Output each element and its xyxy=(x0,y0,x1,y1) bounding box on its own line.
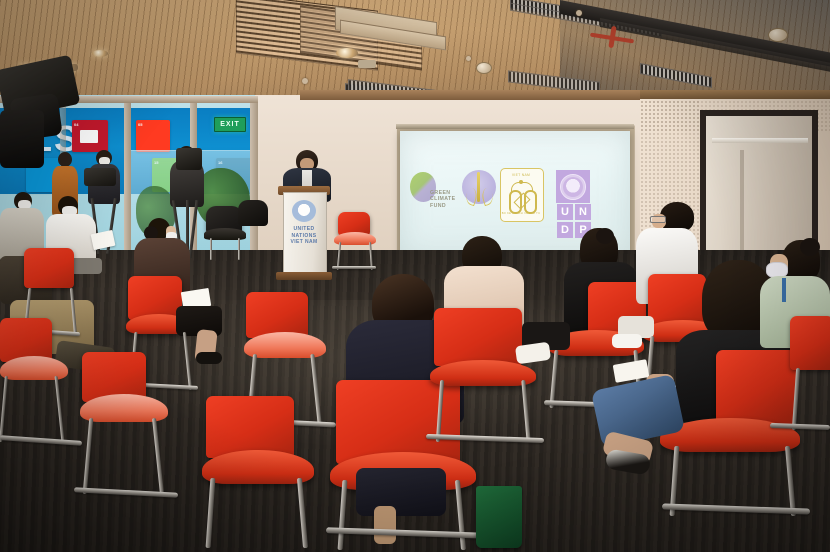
wall-top-trim-right xyxy=(640,90,830,99)
audience-r1-bun xyxy=(596,228,614,244)
sdg-tile-04-number: 04 xyxy=(74,122,78,127)
ceiling-sprinkler-3 xyxy=(576,10,582,16)
chair-r4-back[interactable] xyxy=(790,316,830,370)
gcf-line-3: FUND xyxy=(430,203,464,209)
chair-empty-1-sled xyxy=(332,266,376,269)
gold-emblem-bottom-text: BO KE HOACH VA DAU TU xyxy=(500,212,542,215)
logo-wheat-globe xyxy=(462,170,496,204)
sdg-book-icon xyxy=(80,130,98,143)
camera-1 xyxy=(84,168,116,186)
ceiling-downlight-2 xyxy=(92,50,108,57)
gcf-text: GREEN CLIMATE FUND xyxy=(430,190,464,209)
window-mullion-1 xyxy=(124,96,131,256)
audience-r4-lanyard xyxy=(782,278,786,302)
undp-letter-n: N xyxy=(575,204,591,220)
ceiling-sprinkler-2 xyxy=(466,56,471,61)
gold-emblem-top-text: VIET NAM xyxy=(500,173,542,177)
audience-r2-shoe xyxy=(612,334,642,348)
chair-r3-back[interactable] xyxy=(716,350,796,424)
undp-letter-u: U xyxy=(557,204,573,220)
gold-emblem-border: VIET NAM BO KE HOACH VA DAU TU xyxy=(500,168,544,222)
sdg-tile-04: 04 xyxy=(72,120,108,152)
ceiling-projector-mount xyxy=(358,60,376,68)
chair-l2-back[interactable] xyxy=(24,248,74,288)
green-bag xyxy=(476,486,522,548)
logo-vietnam-gold-emblem: VIET NAM BO KE HOACH VA DAU TU xyxy=(500,168,544,222)
screen-top-rail xyxy=(396,124,634,129)
event-photograph: ALS 14 15 16 04 05 EXIT GREEN CLIMATE FU… xyxy=(0,0,830,552)
foreground-camera-grip xyxy=(0,110,44,168)
gold-emblem-dot-icon xyxy=(519,180,523,184)
chair-black-1-leg-a xyxy=(210,238,212,260)
chair-c2-seat xyxy=(430,360,536,386)
audience-r2-glasses-icon xyxy=(650,216,666,223)
wall-top-trim xyxy=(300,90,640,100)
audience-r4-bun xyxy=(800,238,820,256)
undp-letter-d: D xyxy=(557,222,573,238)
audience-c1-skirt xyxy=(356,468,446,516)
ceiling-downlight-1 xyxy=(336,48,358,58)
reporter-head xyxy=(58,152,72,167)
ceiling-speaker-2 xyxy=(768,28,788,42)
chair-black-2[interactable] xyxy=(238,200,268,226)
podium-base xyxy=(276,272,332,280)
podium-banner-text: UNITED NATIONS VIET NAM xyxy=(284,226,324,246)
camera-2 xyxy=(176,148,202,170)
undp-emblem-block xyxy=(556,170,590,203)
sdg-tile-05-number: 05 xyxy=(138,122,142,127)
audience-c1-leg xyxy=(374,506,396,544)
undp-letters-row-1: U N xyxy=(556,203,592,221)
chair-empty-seat-2 xyxy=(0,356,68,380)
chair-empty-back-5[interactable] xyxy=(206,396,294,458)
un-emblem-icon xyxy=(292,200,316,222)
window-mullion-3 xyxy=(250,96,258,256)
logo-undp: U N D P xyxy=(556,170,592,239)
door-header-trim xyxy=(712,138,808,143)
sdg-tile-05: 05 xyxy=(136,120,170,152)
audience-l3-shoe xyxy=(196,352,222,364)
chair-c2-back[interactable] xyxy=(434,308,522,366)
ceiling-sprinkler-1 xyxy=(302,78,308,84)
chair-black-1-leg-b xyxy=(238,238,240,260)
wheat-stalk-icon xyxy=(477,172,480,202)
chair-r2-back[interactable] xyxy=(648,274,706,326)
exit-sign: EXIT xyxy=(214,117,246,132)
un-globe-icon xyxy=(560,174,586,200)
chair-empty-back-4[interactable] xyxy=(246,292,308,338)
podium-banner-line-3: VIET NAM xyxy=(284,239,324,246)
ceiling-speaker-1 xyxy=(476,62,492,74)
